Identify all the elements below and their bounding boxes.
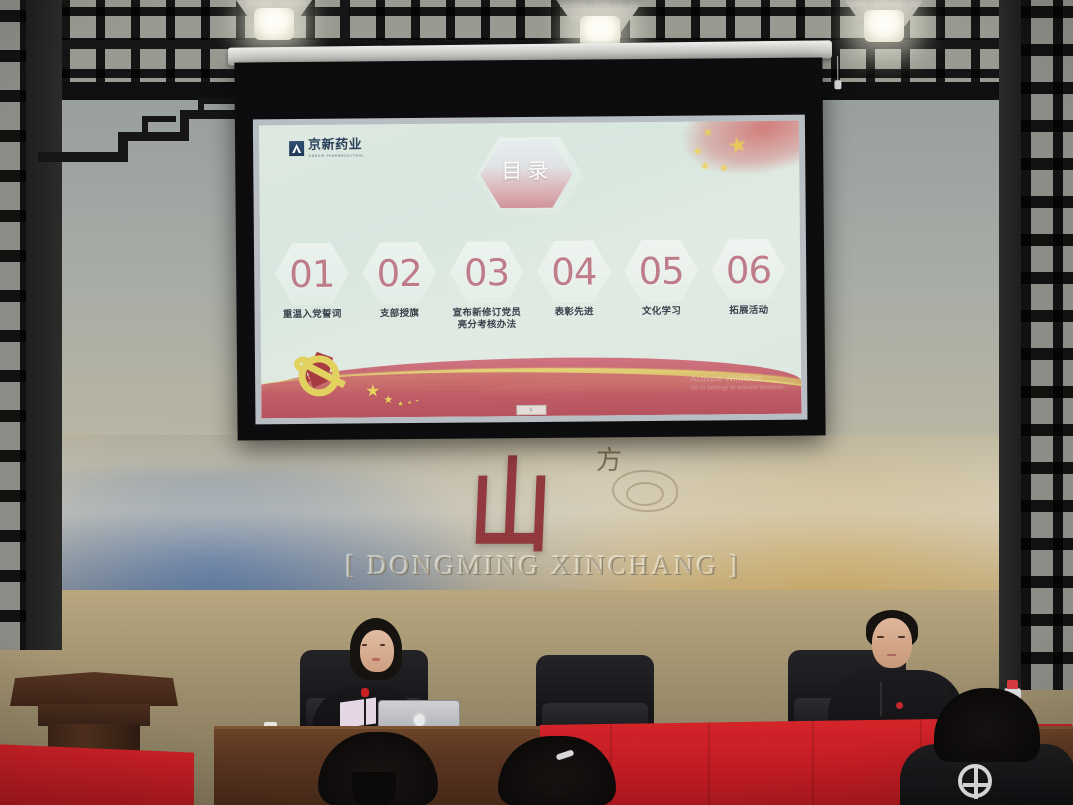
mural-cloud-motif: [612, 470, 678, 512]
windows-activation-watermark: Activate Windows Go to Settings to activ…: [690, 373, 785, 393]
star-icon: ★: [383, 395, 393, 406]
agenda-hexagon: 06: [711, 239, 786, 302]
ceiling-light: [836, 0, 932, 44]
hammer-and-sickle-icon: [287, 347, 366, 406]
agenda-number: 04: [537, 240, 612, 303]
speaker-mouth: [372, 658, 380, 661]
projection-screen: ★ ★ ★ ★ ★ 京新药业 JINGXIN PHARMACEUTI: [234, 57, 825, 440]
star-icon: ★: [407, 401, 412, 406]
agenda-item[interactable]: 06 拓展活动: [705, 239, 793, 318]
presentation-slide: ★ ★ ★ ★ ★ 京新药业 JINGXIN PHARMACEUTI: [259, 121, 802, 419]
agenda-item[interactable]: 01 重温入党誓词: [268, 243, 356, 322]
agenda-list: 01 重温入党誓词 02 支部授旗 03: [268, 239, 793, 333]
mountain-peak-icon: [289, 141, 304, 156]
agenda-hexagon: 03: [449, 241, 524, 304]
watermark-title: Activate Windows: [690, 373, 785, 385]
lattice-frame-right: [999, 0, 1021, 690]
speaker-face: [360, 630, 394, 672]
agenda-number: 05: [624, 240, 699, 303]
venue-sign: [ DONGMING XINCHANG ]: [343, 550, 743, 581]
agenda-hexagon: 01: [275, 243, 350, 306]
lattice-wall-right: [999, 0, 1073, 690]
agenda-hexagon: 04: [537, 240, 612, 303]
agenda-caption: 表彰先进: [530, 306, 617, 319]
attendee-eye: [877, 636, 884, 638]
bottle-cap: [1007, 680, 1018, 689]
audience-ponytail: [352, 772, 396, 805]
agenda-hexagon: 02: [362, 242, 437, 305]
agenda-caption: 宣布新修订党员 亮分考核办法: [443, 307, 531, 332]
watermark-subtitle: Go to Settings to activate Windows.: [690, 384, 785, 392]
agenda-number: 06: [711, 239, 786, 302]
attendee-eye: [898, 636, 905, 638]
mural-calligraphy-small: 方: [596, 440, 622, 477]
speaker-eye: [362, 644, 367, 646]
agenda-item[interactable]: 02 支部授旗: [355, 242, 443, 321]
china-flag-icon: ★ ★ ★ ★ ★: [609, 121, 801, 219]
agenda-caption: 拓展活动: [705, 305, 792, 318]
star-icon: ★: [397, 401, 403, 408]
polo-placket: [880, 682, 882, 716]
lectern-top: [10, 672, 178, 706]
agenda-caption: 文化学习: [618, 305, 705, 318]
agenda-hexagon: 05: [624, 240, 699, 303]
speaker-eye: [380, 644, 385, 646]
brand-name-cn: 京新药业: [308, 138, 364, 151]
agenda-item[interactable]: 04 表彰先进: [530, 240, 618, 319]
agenda-item[interactable]: 05 文化学习: [617, 239, 705, 318]
agenda-caption: 重温入党誓词: [269, 309, 356, 322]
agenda-number: 03: [449, 241, 524, 304]
brand-name-en: JINGXIN PHARMACEUTICAL: [308, 153, 364, 157]
apple-logo-icon: [414, 714, 425, 726]
slide-title-hexagon: 目录: [475, 137, 584, 216]
agenda-caption: 支部授旗: [356, 308, 443, 321]
slide-footer-graphic: ★ ★ ★ ★ ★ Activate Windows Go to Setting…: [261, 338, 802, 419]
agenda-number: 02: [362, 242, 437, 305]
audience-front-center: [498, 736, 616, 805]
brand-logo: 京新药业 JINGXIN PHARMACEUTICAL: [289, 138, 364, 158]
agenda-item[interactable]: 03 宣布新修订党员 亮分考核办法: [443, 241, 531, 332]
peace-sign-icon: [958, 764, 992, 798]
lectern-neck: [38, 704, 150, 726]
attendee-face: [872, 618, 912, 668]
lamp-bulb-icon: [254, 8, 294, 40]
red-table-cloth-left: [0, 744, 194, 805]
ceiling-light: [226, 0, 322, 42]
attendee-mouth: [887, 654, 896, 656]
audience-front-right: [900, 744, 1073, 805]
star-icon: ★: [365, 382, 380, 399]
screen-surface: ★ ★ ★ ★ ★ 京新药业 JINGXIN PHARMACEUTI: [253, 115, 808, 425]
agenda-number: 01: [275, 243, 350, 306]
star-icon: ★: [415, 399, 419, 403]
slide-title: 目录: [475, 137, 584, 216]
audience-front-left: [318, 732, 438, 805]
lamp-bulb-icon: [864, 10, 904, 42]
party-pin-icon: [896, 702, 903, 709]
slide-page-indicator: 1: [516, 405, 546, 415]
conference-room-photo: 山 方 [ DONGMING XINCHANG ]: [0, 0, 1073, 805]
audience-hair: [498, 736, 616, 805]
